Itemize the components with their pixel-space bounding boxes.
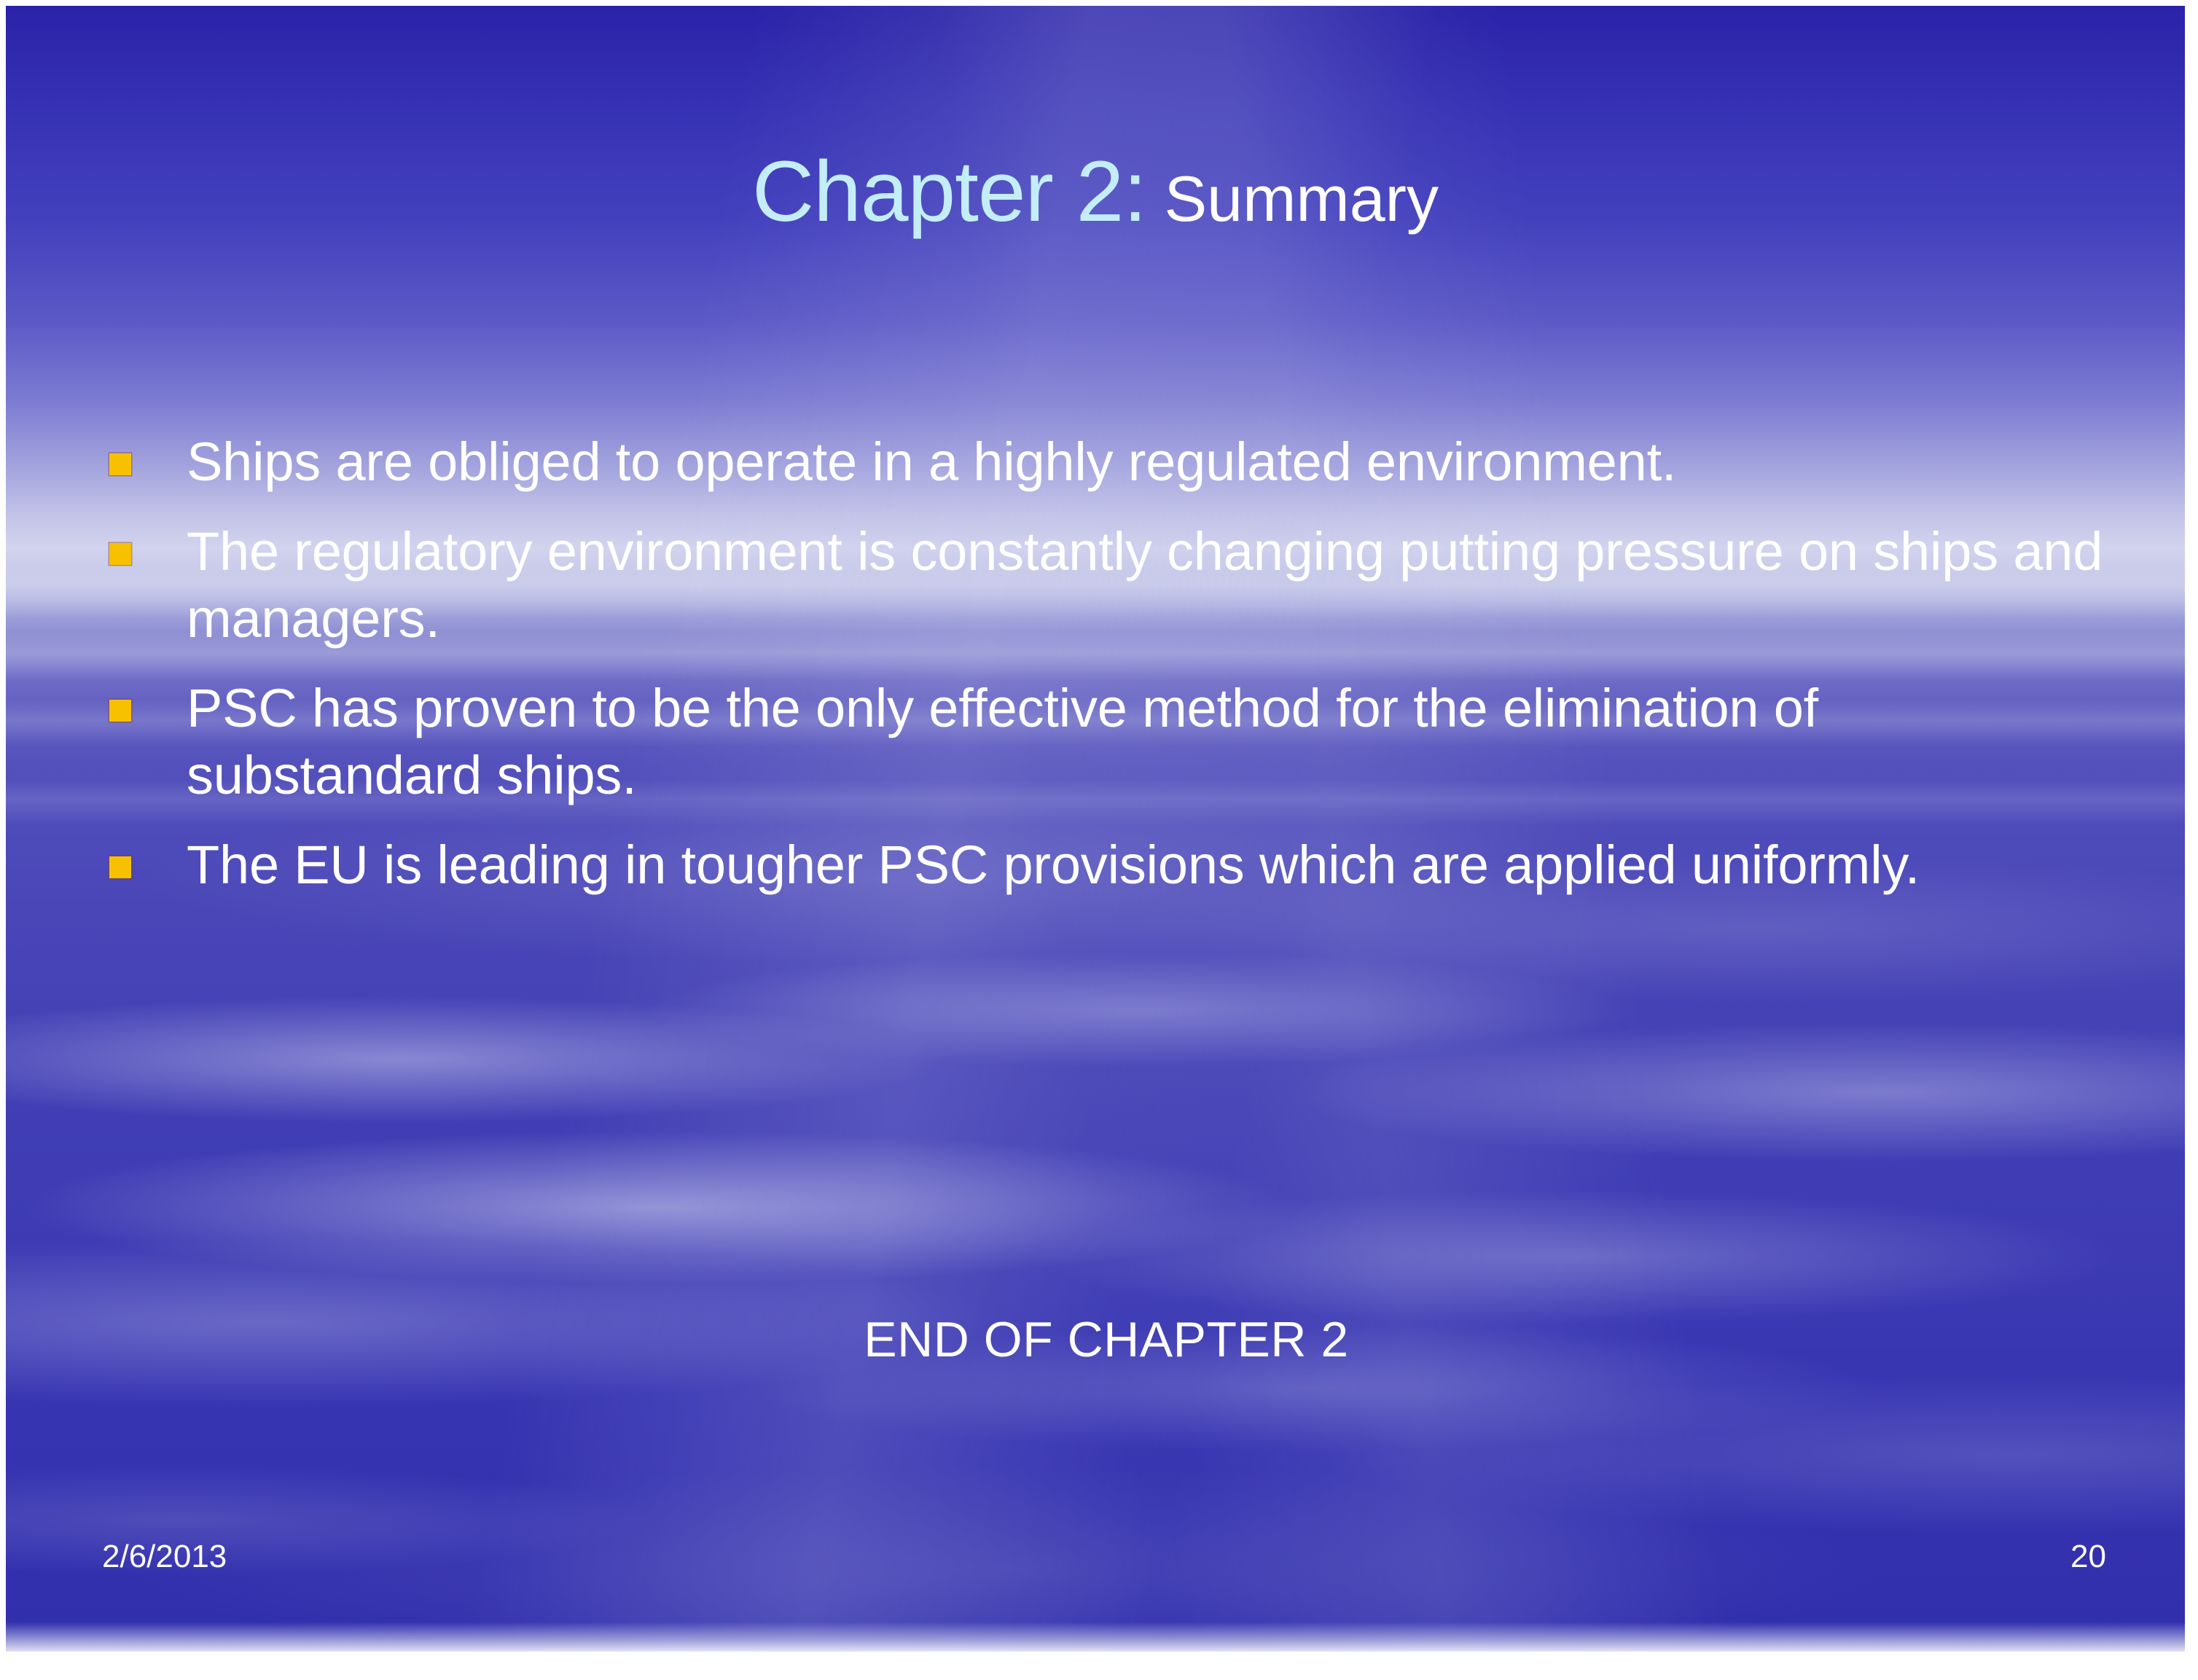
list-item-text: Ships are obliged to operate in a highly… (187, 429, 2127, 496)
title-chapter-label: Chapter 2: (752, 144, 1146, 240)
footer-page-number: 20 (2070, 1541, 2106, 1573)
square-bullet-icon (109, 700, 131, 722)
footer-date: 2/6/2013 (102, 1541, 227, 1573)
presentation-slide: Chapter 2: Summary Ships are obliged to … (6, 6, 2185, 1652)
slide-bullet-list: Ships are obliged to operate in a highly… (93, 429, 2127, 921)
list-item: The regulatory environment is constantly… (93, 518, 2127, 653)
list-item-text: PSC has proven to be the only effective … (187, 675, 2127, 810)
closing-text: END OF CHAPTER 2 (864, 1310, 1348, 1370)
slide-closing-line: END OF CHAPTER 2 (6, 1310, 2185, 1370)
list-item: Ships are obliged to operate in a highly… (93, 429, 2127, 496)
square-bullet-icon (109, 543, 131, 565)
list-item-text: The EU is leading in tougher PSC provisi… (187, 832, 2127, 899)
square-bullet-icon (109, 453, 131, 475)
title-summary-label (1146, 163, 1164, 235)
slide-title: Chapter 2: Summary (6, 149, 2185, 235)
list-item: The EU is leading in tougher PSC provisi… (93, 832, 2127, 899)
square-bullet-icon (109, 856, 131, 878)
list-item: PSC has proven to be the only effective … (93, 675, 2127, 810)
title-subject-label: Summary (1164, 163, 1439, 235)
list-item-text: The regulatory environment is constantly… (187, 518, 2127, 653)
